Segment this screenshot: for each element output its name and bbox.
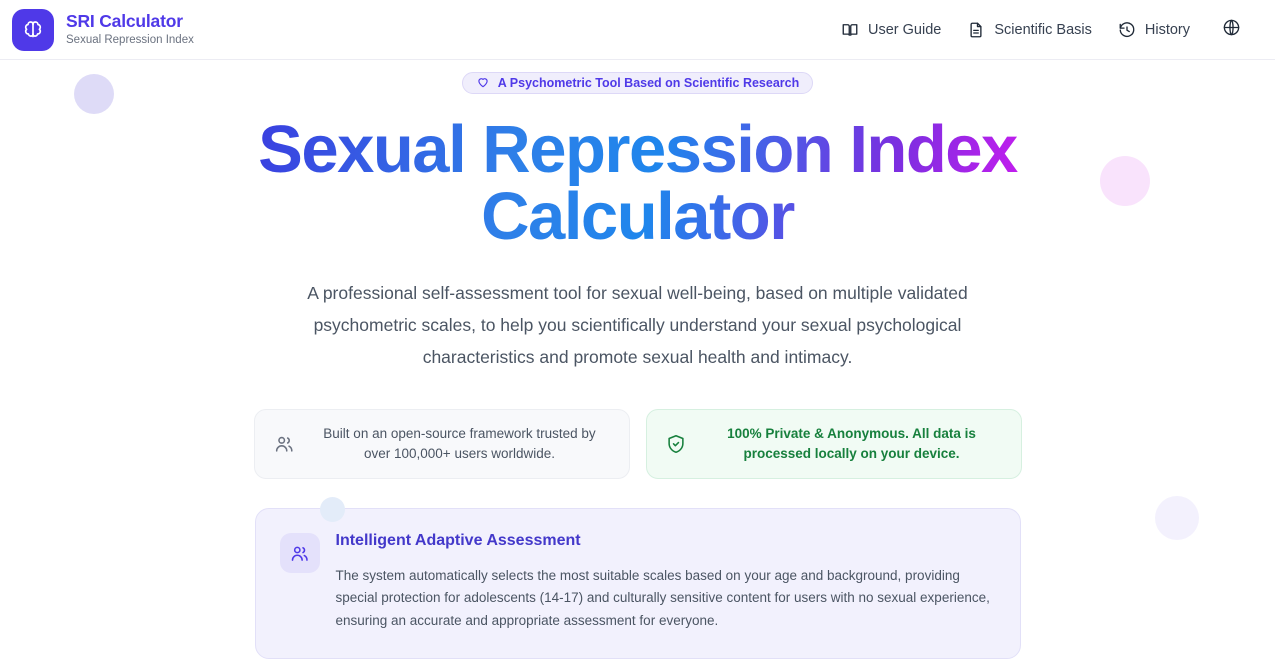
feature-card-title: Intelligent Adaptive Assessment <box>336 531 996 552</box>
main-nav: User Guide Scientific Basis History <box>841 18 1241 42</box>
page-title: Sexual Repression Index Calculator <box>258 116 1018 250</box>
brand-title: SRI Calculator <box>66 11 194 32</box>
hero-subtitle: A professional self-assessment tool for … <box>258 277 1018 373</box>
faint-blue-circle-center <box>320 497 345 522</box>
globe-icon <box>1222 18 1241 42</box>
hero-section: A Psychometric Tool Based on Scientific … <box>0 60 1275 666</box>
language-selector[interactable] <box>1222 18 1241 42</box>
heart-icon <box>476 75 490 92</box>
nav-item-label: History <box>1145 22 1190 38</box>
nav-item-label: User Guide <box>868 22 941 38</box>
nav-item-scientific-basis[interactable]: Scientific Basis <box>967 21 1092 39</box>
nav-item-label: Scientific Basis <box>994 22 1092 38</box>
nav-item-history[interactable]: History <box>1118 21 1190 39</box>
trust-card-text: 100% Private & Anonymous. All data is pr… <box>701 424 1003 464</box>
trust-card-privacy: 100% Private & Anonymous. All data is pr… <box>646 409 1022 479</box>
feature-card-adaptive-assessment: Intelligent Adaptive Assessment The syst… <box>255 508 1021 659</box>
users-icon <box>280 533 320 573</box>
trust-row: Built on an open-source framework truste… <box>254 409 1022 479</box>
app-header: SRI Calculator Sexual Repression Index U… <box>0 0 1275 60</box>
document-text-icon <box>967 21 985 39</box>
brain-icon <box>12 9 54 51</box>
trust-card-text: Built on an open-source framework truste… <box>309 424 611 464</box>
brand-subtitle: Sexual Repression Index <box>66 33 194 48</box>
nav-item-user-guide[interactable]: User Guide <box>841 21 941 39</box>
trust-card-open-source: Built on an open-source framework truste… <box>254 409 630 479</box>
hero-badge-label: A Psychometric Tool Based on Scientific … <box>498 76 799 90</box>
feature-card-description: The system automatically selects the mos… <box>336 565 996 633</box>
users-icon <box>273 433 295 455</box>
hero-badge: A Psychometric Tool Based on Scientific … <box>462 72 813 94</box>
shield-check-icon <box>665 433 687 455</box>
brand[interactable]: SRI Calculator Sexual Repression Index <box>12 9 194 51</box>
book-open-icon <box>841 21 859 39</box>
history-clock-icon <box>1118 21 1136 39</box>
